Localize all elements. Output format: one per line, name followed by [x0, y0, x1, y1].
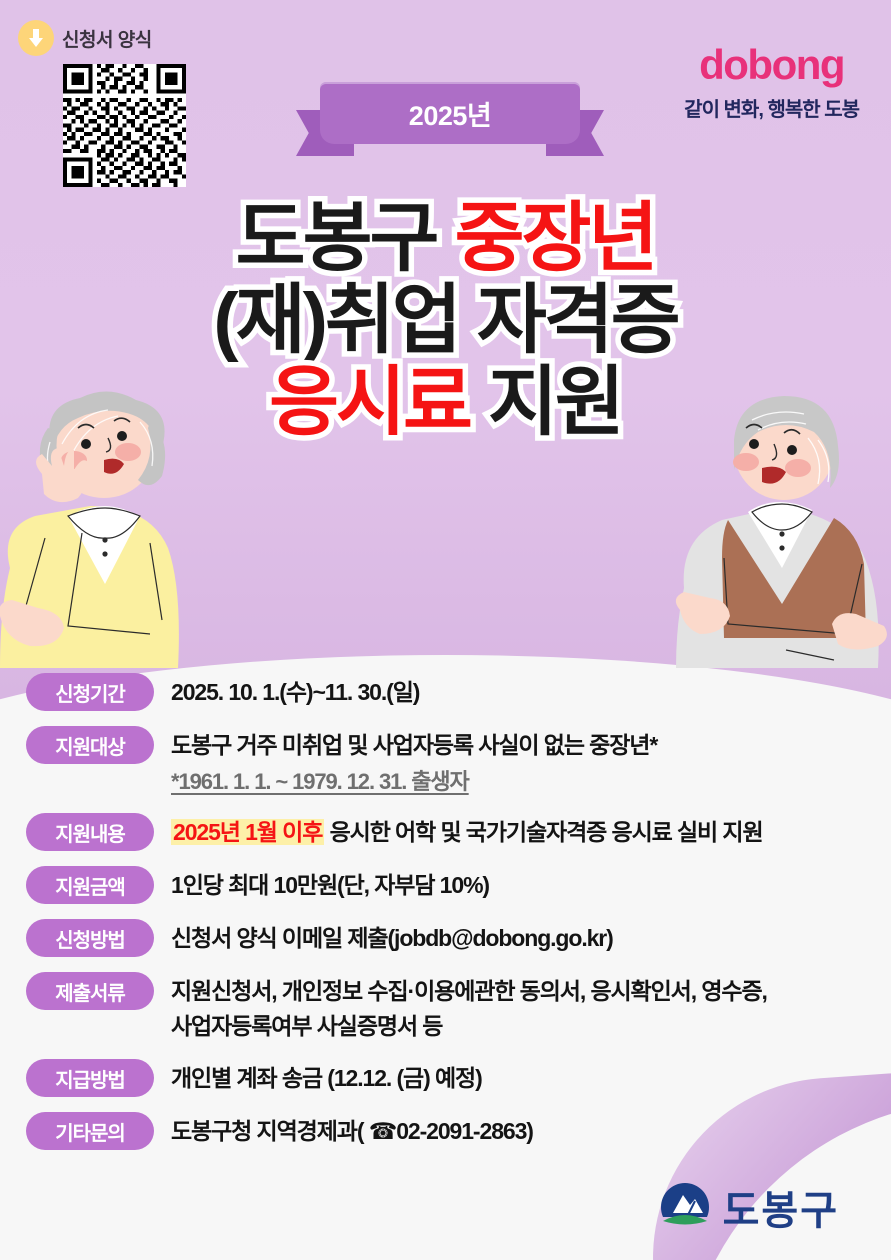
row-value-line[interactable]: 신청서 양식 이메일 제출(jobdb@dobong.go.kr) — [171, 921, 613, 956]
download-arrow-icon — [18, 20, 54, 56]
row-value-line: 사업자등록여부 사실증명서 등 — [171, 1009, 767, 1044]
title-part-support: 지원 — [488, 360, 622, 445]
table-row: 신청기간 2025. 10. 1.(수)~11. 30.(일) — [26, 672, 871, 711]
info-table: 신청기간 2025. 10. 1.(수)~11. 30.(일) 지원대상 도봉구… — [26, 672, 871, 1164]
row-value: 지원신청서, 개인정보 수집·이용에관한 동의서, 응시확인서, 영수증, 사업… — [171, 971, 767, 1044]
title-part-dobonggu: 도봉구 — [236, 196, 455, 281]
row-label-badge: 기타문의 — [26, 1112, 154, 1150]
row-value: 개인별 계좌 송금 (12.12. (금) 예정) — [171, 1058, 482, 1096]
poster-root: 신청서 양식 — [0, 0, 891, 1260]
title-part-reemployment-cert: (재)취업 자격증 — [213, 278, 677, 363]
table-row: 기타문의 도봉구청 지역경제과( ☎02-2091-2863) — [26, 1111, 871, 1150]
row-value-line: 도봉구 거주 미취업 및 사업자등록 사실이 없는 중장년* — [171, 728, 657, 763]
table-row: 지원내용 2025년 1월 이후 응시한 어학 및 국가기술자격증 응시료 실비… — [26, 812, 871, 851]
title-part-middleage: 중장년 — [455, 196, 656, 281]
title-line-1: 도봉구 중장년 — [0, 198, 891, 280]
row-value-line: 도봉구청 지역경제과( ☎02-2091-2863) — [171, 1114, 533, 1149]
row-label-badge: 지급방법 — [26, 1059, 154, 1097]
title-part-examfee: 응시료 — [269, 360, 488, 445]
row-value: 도봉구 거주 미취업 및 사업자등록 사실이 없는 중장년* *1961. 1.… — [171, 725, 657, 798]
row-label-badge: 제출서류 — [26, 972, 154, 1010]
table-row: 지원금액 1인당 최대 10만원(단, 자부담 10%) — [26, 865, 871, 904]
row-value: 1인당 최대 10만원(단, 자부담 10%) — [171, 865, 489, 903]
row-label-badge: 지원금액 — [26, 866, 154, 904]
table-row: 지급방법 개인별 계좌 송금 (12.12. (금) 예정) — [26, 1058, 871, 1097]
year-ribbon: 2025년 — [296, 82, 604, 160]
row-value-line: 1인당 최대 10만원(단, 자부담 10%) — [171, 868, 489, 903]
row-value: 도봉구청 지역경제과( ☎02-2091-2863) — [171, 1111, 533, 1149]
highlighted-date-text: 2025년 1월 이후 — [171, 819, 324, 845]
row-label-badge: 신청방법 — [26, 919, 154, 957]
ribbon-body: 2025년 — [320, 82, 580, 144]
row-value-line: 지원신청서, 개인정보 수집·이용에관한 동의서, 응시확인서, 영수증, — [171, 974, 767, 1009]
title-line-2: (재)취업 자격증 — [0, 280, 891, 362]
qr-label: 신청서 양식 — [62, 25, 152, 52]
table-row: 제출서류 지원신청서, 개인정보 수집·이용에관한 동의서, 응시확인서, 영수… — [26, 971, 871, 1044]
row-value-note: *1961. 1. 1. ~ 1979. 12. 31. 출생자 — [171, 765, 657, 798]
row-value: 2025. 10. 1.(수)~11. 30.(일) — [171, 672, 419, 710]
ribbon-year-text: 2025년 — [409, 94, 491, 133]
row-value-line: 2025. 10. 1.(수)~11. 30.(일) — [171, 675, 419, 710]
qr-heading: 신청서 양식 — [18, 20, 186, 56]
title-line-3: 응시료 지원 — [0, 362, 891, 444]
page-title: 도봉구 중장년 (재)취업 자격증 응시료 지원 — [0, 198, 891, 444]
table-row: 지원대상 도봉구 거주 미취업 및 사업자등록 사실이 없는 중장년* *196… — [26, 725, 871, 798]
row-value-line: 2025년 1월 이후 응시한 어학 및 국가기술자격증 응시료 실비 지원 — [171, 815, 763, 850]
row-value: 2025년 1월 이후 응시한 어학 및 국가기술자격증 응시료 실비 지원 — [171, 812, 763, 850]
qr-code-image[interactable] — [63, 64, 186, 187]
table-row: 신청방법 신청서 양식 이메일 제출(jobdb@dobong.go.kr) — [26, 918, 871, 957]
application-form-qr-block[interactable]: 신청서 양식 — [18, 20, 186, 187]
footer-logo-text: 도봉구 — [723, 1178, 839, 1236]
dobong-gu-footer-logo: 도봉구 — [659, 1178, 839, 1236]
row-label-badge: 지원내용 — [26, 813, 154, 851]
dobong-brand-logo: dobong 같이 변화, 행복한 도봉 — [684, 44, 859, 122]
row-value-rest: 응시한 어학 및 국가기술자격증 응시료 실비 지원 — [324, 819, 762, 845]
brand-wordmark: dobong — [684, 44, 859, 86]
row-value: 신청서 양식 이메일 제출(jobdb@dobong.go.kr) — [171, 918, 613, 956]
row-value-line: 개인별 계좌 송금 (12.12. (금) 예정) — [171, 1061, 482, 1096]
row-label-badge: 신청기간 — [26, 673, 154, 711]
mountain-emblem-icon — [659, 1181, 711, 1233]
brand-slogan: 같이 변화, 행복한 도봉 — [684, 93, 859, 122]
row-label-badge: 지원대상 — [26, 726, 154, 764]
